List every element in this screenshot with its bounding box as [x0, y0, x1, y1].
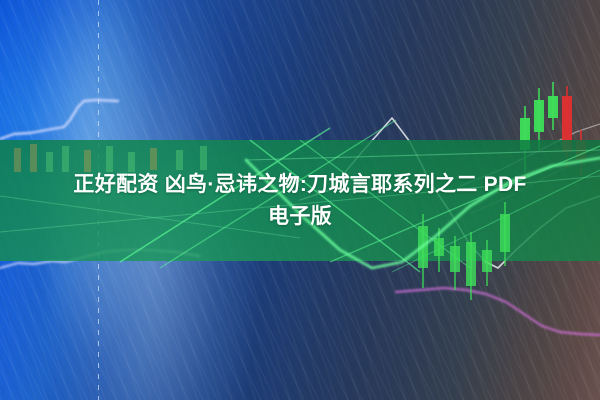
title-line-1: 正好配资 凶鸟·忌讳之物:刀城言耶系列之二 PDF	[73, 170, 526, 200]
banner-title-block: 正好配资 凶鸟·忌讳之物:刀城言耶系列之二 PDF 电子版	[0, 140, 600, 261]
title-line-2: 电子版	[268, 202, 332, 232]
banner-image: 正好配资 凶鸟·忌讳之物:刀城言耶系列之二 PDF 电子版	[0, 0, 600, 400]
